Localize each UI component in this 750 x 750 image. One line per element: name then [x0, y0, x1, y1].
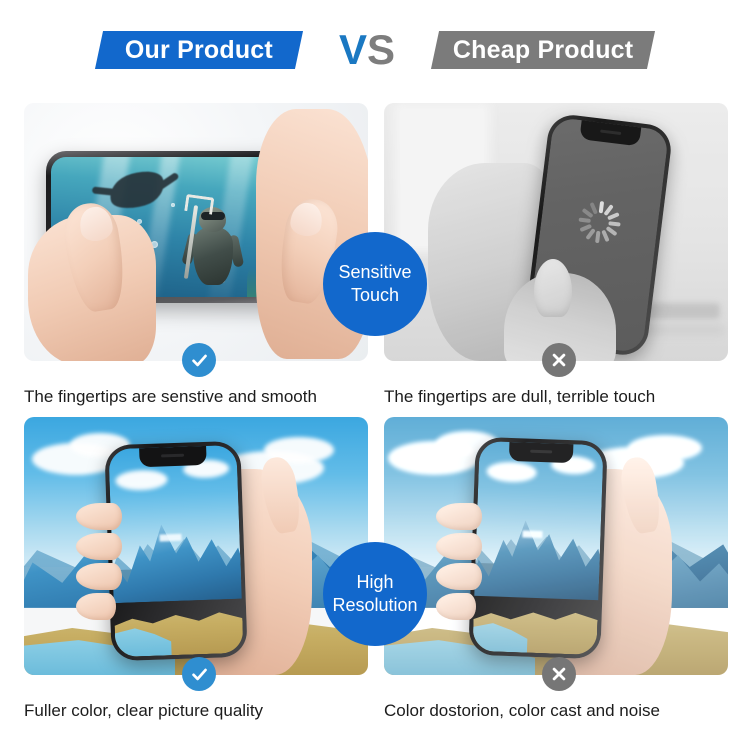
vs-separator: VS: [339, 29, 395, 71]
our-product-label: Our Product: [125, 38, 273, 63]
caption-high-resolution-cheap: Color dostorion, color cast and noise: [384, 701, 734, 721]
photo-gaming-phone: [24, 103, 368, 361]
feature-badge-line1: High: [356, 571, 393, 594]
panel-high-resolution-cheap: Color dostorion, color cast and noise: [384, 417, 734, 721]
status-badge-cross: [542, 657, 576, 691]
cross-icon: [550, 351, 568, 369]
feature-badge-sensitive-touch: Sensitive Touch: [323, 232, 427, 336]
feature-badge-high-resolution: High Resolution: [323, 542, 427, 646]
feature-badge-line1: Sensitive: [338, 261, 411, 284]
game-character: [183, 203, 243, 289]
vs-letter-s: S: [367, 26, 395, 73]
status-badge-check: [182, 343, 216, 377]
caption-sensitive-touch-ours: The fingertips are senstive and smooth: [24, 387, 374, 407]
comparison-header: Our Product VS Cheap Product: [0, 0, 750, 100]
photo-mountain-vivid: [24, 417, 368, 675]
photo-loading-phone: [384, 103, 728, 361]
loading-spinner-icon: [576, 198, 623, 245]
panel-high-resolution-ours: Fuller color, clear picture quality: [24, 417, 374, 721]
check-icon: [190, 665, 209, 684]
decorative-bubble: [660, 60, 682, 82]
phone-notch: [139, 446, 206, 467]
decorative-bubble: [300, 24, 326, 50]
decorative-bubble: [322, 62, 340, 80]
photo-mountain-washed: [384, 417, 728, 675]
panel-sensitive-touch-cheap: The fingertips are dull, terrible touch: [384, 103, 734, 407]
cross-icon: [550, 665, 568, 683]
cheap-product-banner: Cheap Product: [431, 31, 655, 69]
feature-badge-line2: Resolution: [332, 594, 417, 617]
vs-letter-v: V: [339, 26, 367, 73]
status-badge-cross: [542, 343, 576, 377]
status-badge-check: [182, 657, 216, 691]
cheap-product-label: Cheap Product: [453, 38, 633, 63]
mountain-landscape-on-screen: [472, 441, 603, 655]
fingers: [436, 503, 492, 623]
caption-sensitive-touch-cheap: The fingertips are dull, terrible touch: [384, 387, 734, 407]
panel-sensitive-touch-ours: The fingertips are senstive and smooth: [24, 103, 374, 407]
comparison-grid: The fingertips are senstive and smooth: [0, 100, 750, 750]
feature-badge-line2: Touch: [351, 284, 399, 307]
pointing-finger: [534, 259, 572, 317]
caption-high-resolution-ours: Fuller color, clear picture quality: [24, 701, 374, 721]
fingers: [76, 503, 132, 623]
phone-notch: [509, 442, 574, 463]
phone-screen: [472, 441, 603, 655]
our-product-banner: Our Product: [95, 31, 303, 69]
check-icon: [190, 351, 209, 370]
